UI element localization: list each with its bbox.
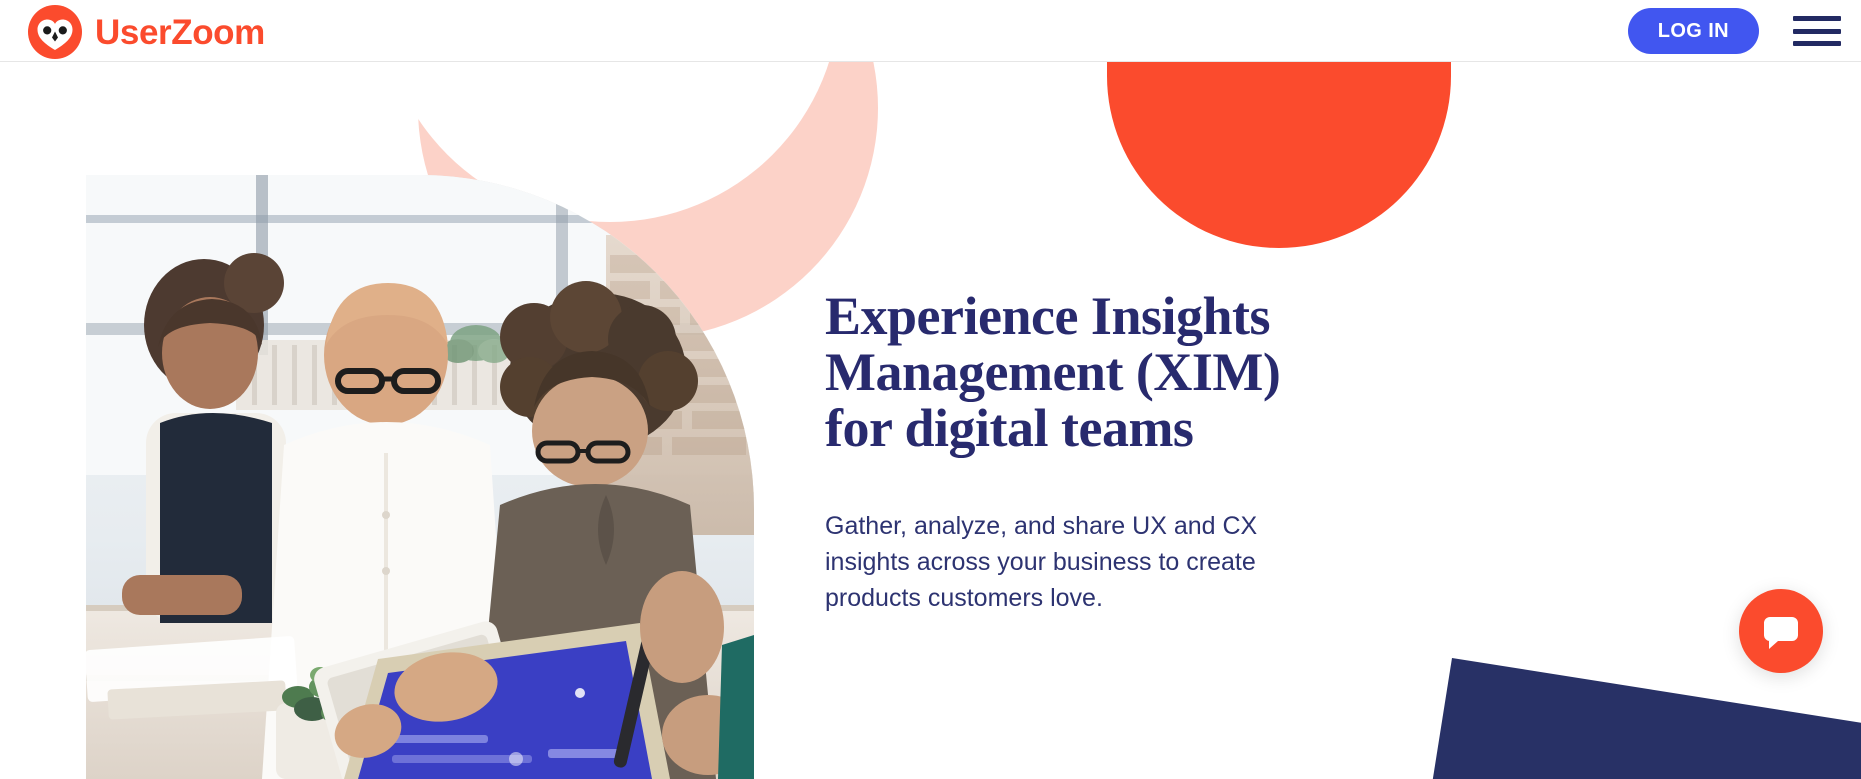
hero-title-line-3: for digital teams [825, 398, 1193, 458]
hero-copy: Experience Insights Management (XIM) for… [825, 288, 1345, 616]
page-root: Experience Insights Management (XIM) for… [0, 0, 1861, 779]
hamburger-bar-3 [1793, 41, 1841, 46]
owl-logo-icon [28, 5, 82, 59]
hero-subtitle: Gather, analyze, and share UX and CX ins… [825, 508, 1345, 616]
hamburger-bar-1 [1793, 16, 1841, 21]
hero-title-line-2: Management (XIM) [825, 342, 1280, 402]
navy-angled-band-decoration [1429, 658, 1861, 779]
chat-bubble-icon [1761, 611, 1801, 651]
header-actions: LOG IN [1628, 0, 1841, 62]
brand-logo[interactable]: UserZoom [28, 5, 265, 59]
login-button[interactable]: LOG IN [1628, 8, 1759, 54]
brand-name: UserZoom [95, 15, 265, 50]
chat-launcher-button[interactable] [1739, 589, 1823, 673]
hero-title-line-1: Experience Insights [825, 286, 1270, 346]
hamburger-bar-2 [1793, 29, 1841, 34]
site-header: UserZoom LOG IN [0, 0, 1861, 62]
page-title: Experience Insights Management (XIM) for… [825, 288, 1345, 456]
hamburger-menu-icon[interactable] [1793, 13, 1841, 49]
